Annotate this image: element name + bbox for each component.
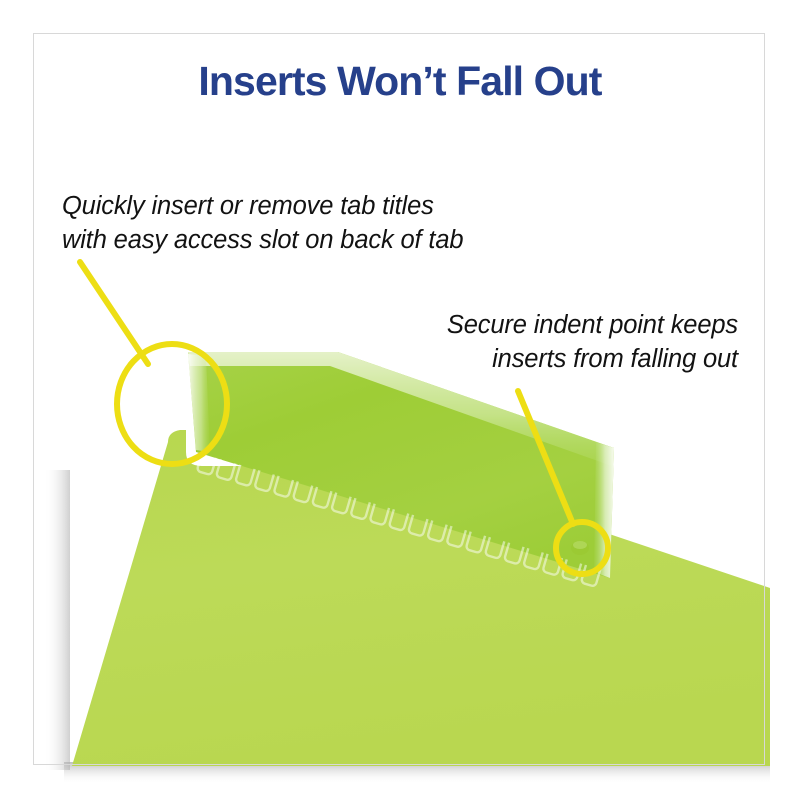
- callout-right-line-1: Secure indent point keeps: [447, 308, 738, 342]
- callout-right-line-2: inserts from falling out: [447, 342, 738, 376]
- callout-circle-right: [556, 522, 608, 574]
- callout-label-easy-access-slot: Quickly insert or remove tab titles with…: [62, 189, 463, 257]
- page-title: Inserts Won’t Fall Out: [0, 57, 800, 105]
- callout-circle-left: [117, 344, 227, 464]
- callout-leader-line-left: [80, 262, 148, 364]
- callout-annotations: [0, 0, 800, 800]
- product-feature-image: Inserts Won’t Fall Out Quickly insert or…: [0, 0, 800, 800]
- callout-leader-line-right: [518, 391, 573, 524]
- callout-left-line-2: with easy access slot on back of tab: [62, 223, 463, 257]
- callout-left-line-1: Quickly insert or remove tab titles: [62, 189, 463, 223]
- callout-label-secure-indent-point: Secure indent point keeps inserts from f…: [447, 308, 738, 376]
